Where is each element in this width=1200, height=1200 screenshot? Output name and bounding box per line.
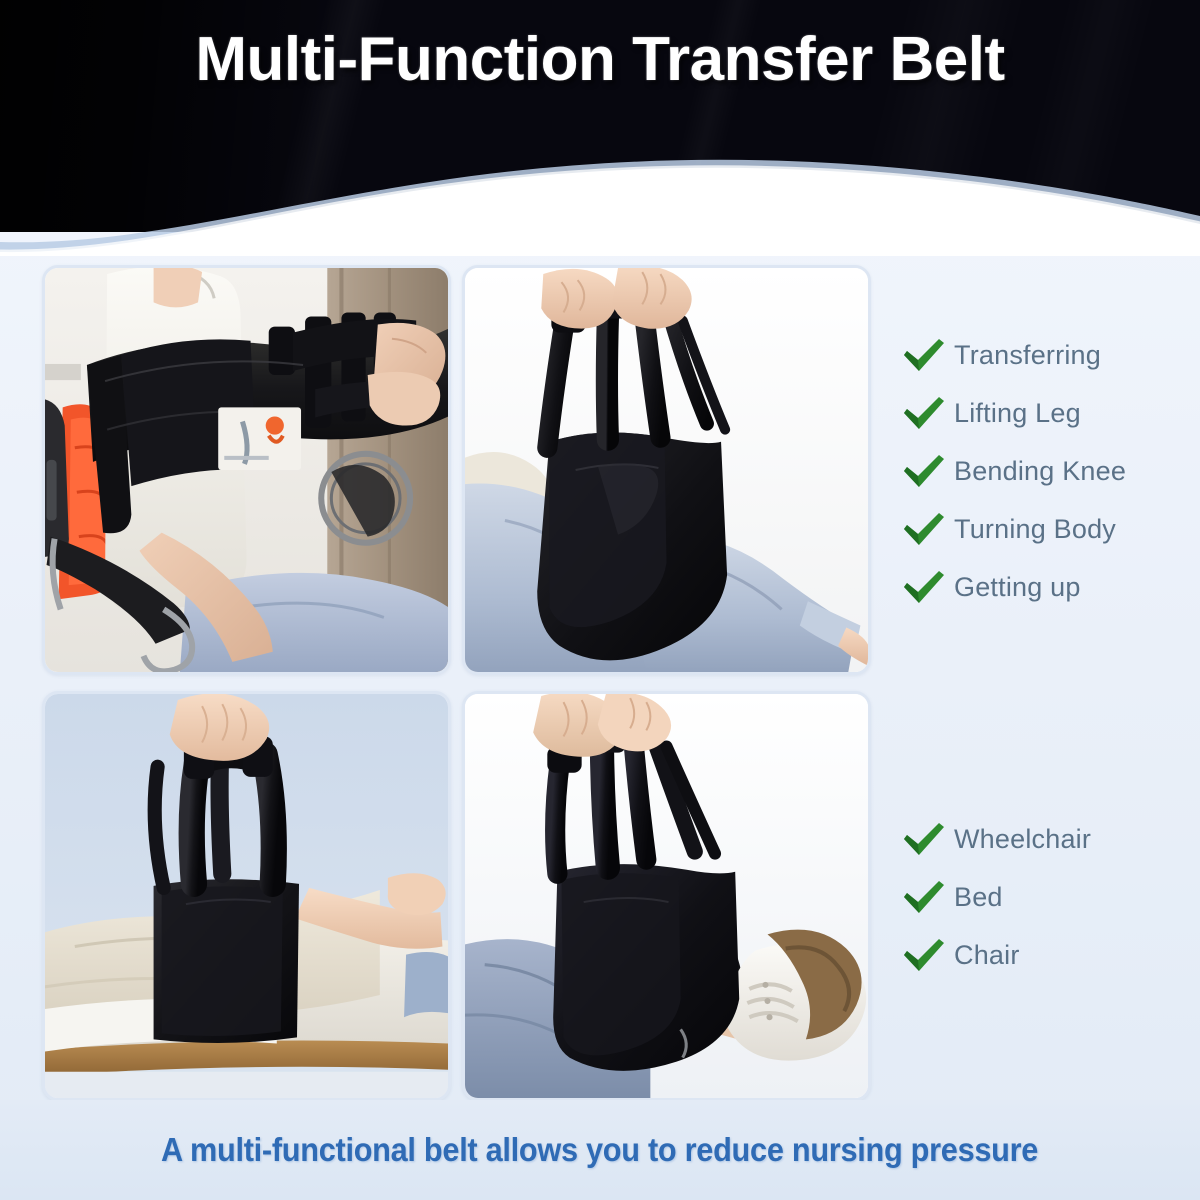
photo-panel-leg-lift[interactable]: [462, 265, 871, 675]
footer-banner: A multi-functional belt allows you to re…: [0, 1100, 1200, 1200]
check-icon: [900, 567, 948, 607]
check-icon: [900, 877, 948, 917]
feature-label: Transferring: [954, 340, 1101, 371]
check-icon: [900, 935, 948, 975]
feature-label: Bending Knee: [954, 456, 1126, 487]
list-item[interactable]: Getting up: [900, 558, 1126, 616]
photo-panel-wheelchair-transfer[interactable]: [42, 265, 451, 675]
list-item[interactable]: Wheelchair: [900, 810, 1091, 868]
bed-transfer-photo: [45, 694, 448, 1098]
check-icon: [900, 393, 948, 433]
footer-tagline: A multi-functional belt allows you to re…: [161, 1131, 1038, 1169]
feature-label: Wheelchair: [954, 824, 1091, 855]
photo-panel-leg-lift-shoe[interactable]: [462, 691, 871, 1101]
header-banner: Multi-Function Transfer Belt: [0, 0, 1200, 232]
list-item[interactable]: Bed: [900, 868, 1091, 926]
feature-label: Lifting Leg: [954, 398, 1081, 429]
leg-lift-shoe-photo: [465, 694, 868, 1098]
feature-list-locations: Wheelchair Bed Chair: [900, 810, 1091, 984]
check-icon: [900, 335, 948, 375]
feature-label: Chair: [954, 940, 1020, 971]
check-icon: [900, 819, 948, 859]
photo-panel-bed-transfer[interactable]: [42, 691, 451, 1101]
list-item[interactable]: Turning Body: [900, 500, 1126, 558]
feature-label: Turning Body: [954, 514, 1116, 545]
photo-grid: [42, 265, 880, 1101]
feature-list-actions: Transferring Lifting Leg Bending Knee Tu…: [900, 326, 1126, 616]
list-item[interactable]: Transferring: [900, 326, 1126, 384]
page-title: Multi-Function Transfer Belt: [0, 24, 1200, 95]
product-infographic: Multi-Function Transfer Belt: [0, 0, 1200, 1200]
list-item[interactable]: Chair: [900, 926, 1091, 984]
list-item[interactable]: Lifting Leg: [900, 384, 1126, 442]
check-icon: [900, 451, 948, 491]
feature-label: Bed: [954, 882, 1003, 913]
check-icon: [900, 509, 948, 549]
list-item[interactable]: Bending Knee: [900, 442, 1126, 500]
wheelchair-transfer-photo: [45, 268, 448, 672]
feature-label: Getting up: [954, 572, 1081, 603]
leg-lift-sling-photo: [465, 268, 868, 672]
